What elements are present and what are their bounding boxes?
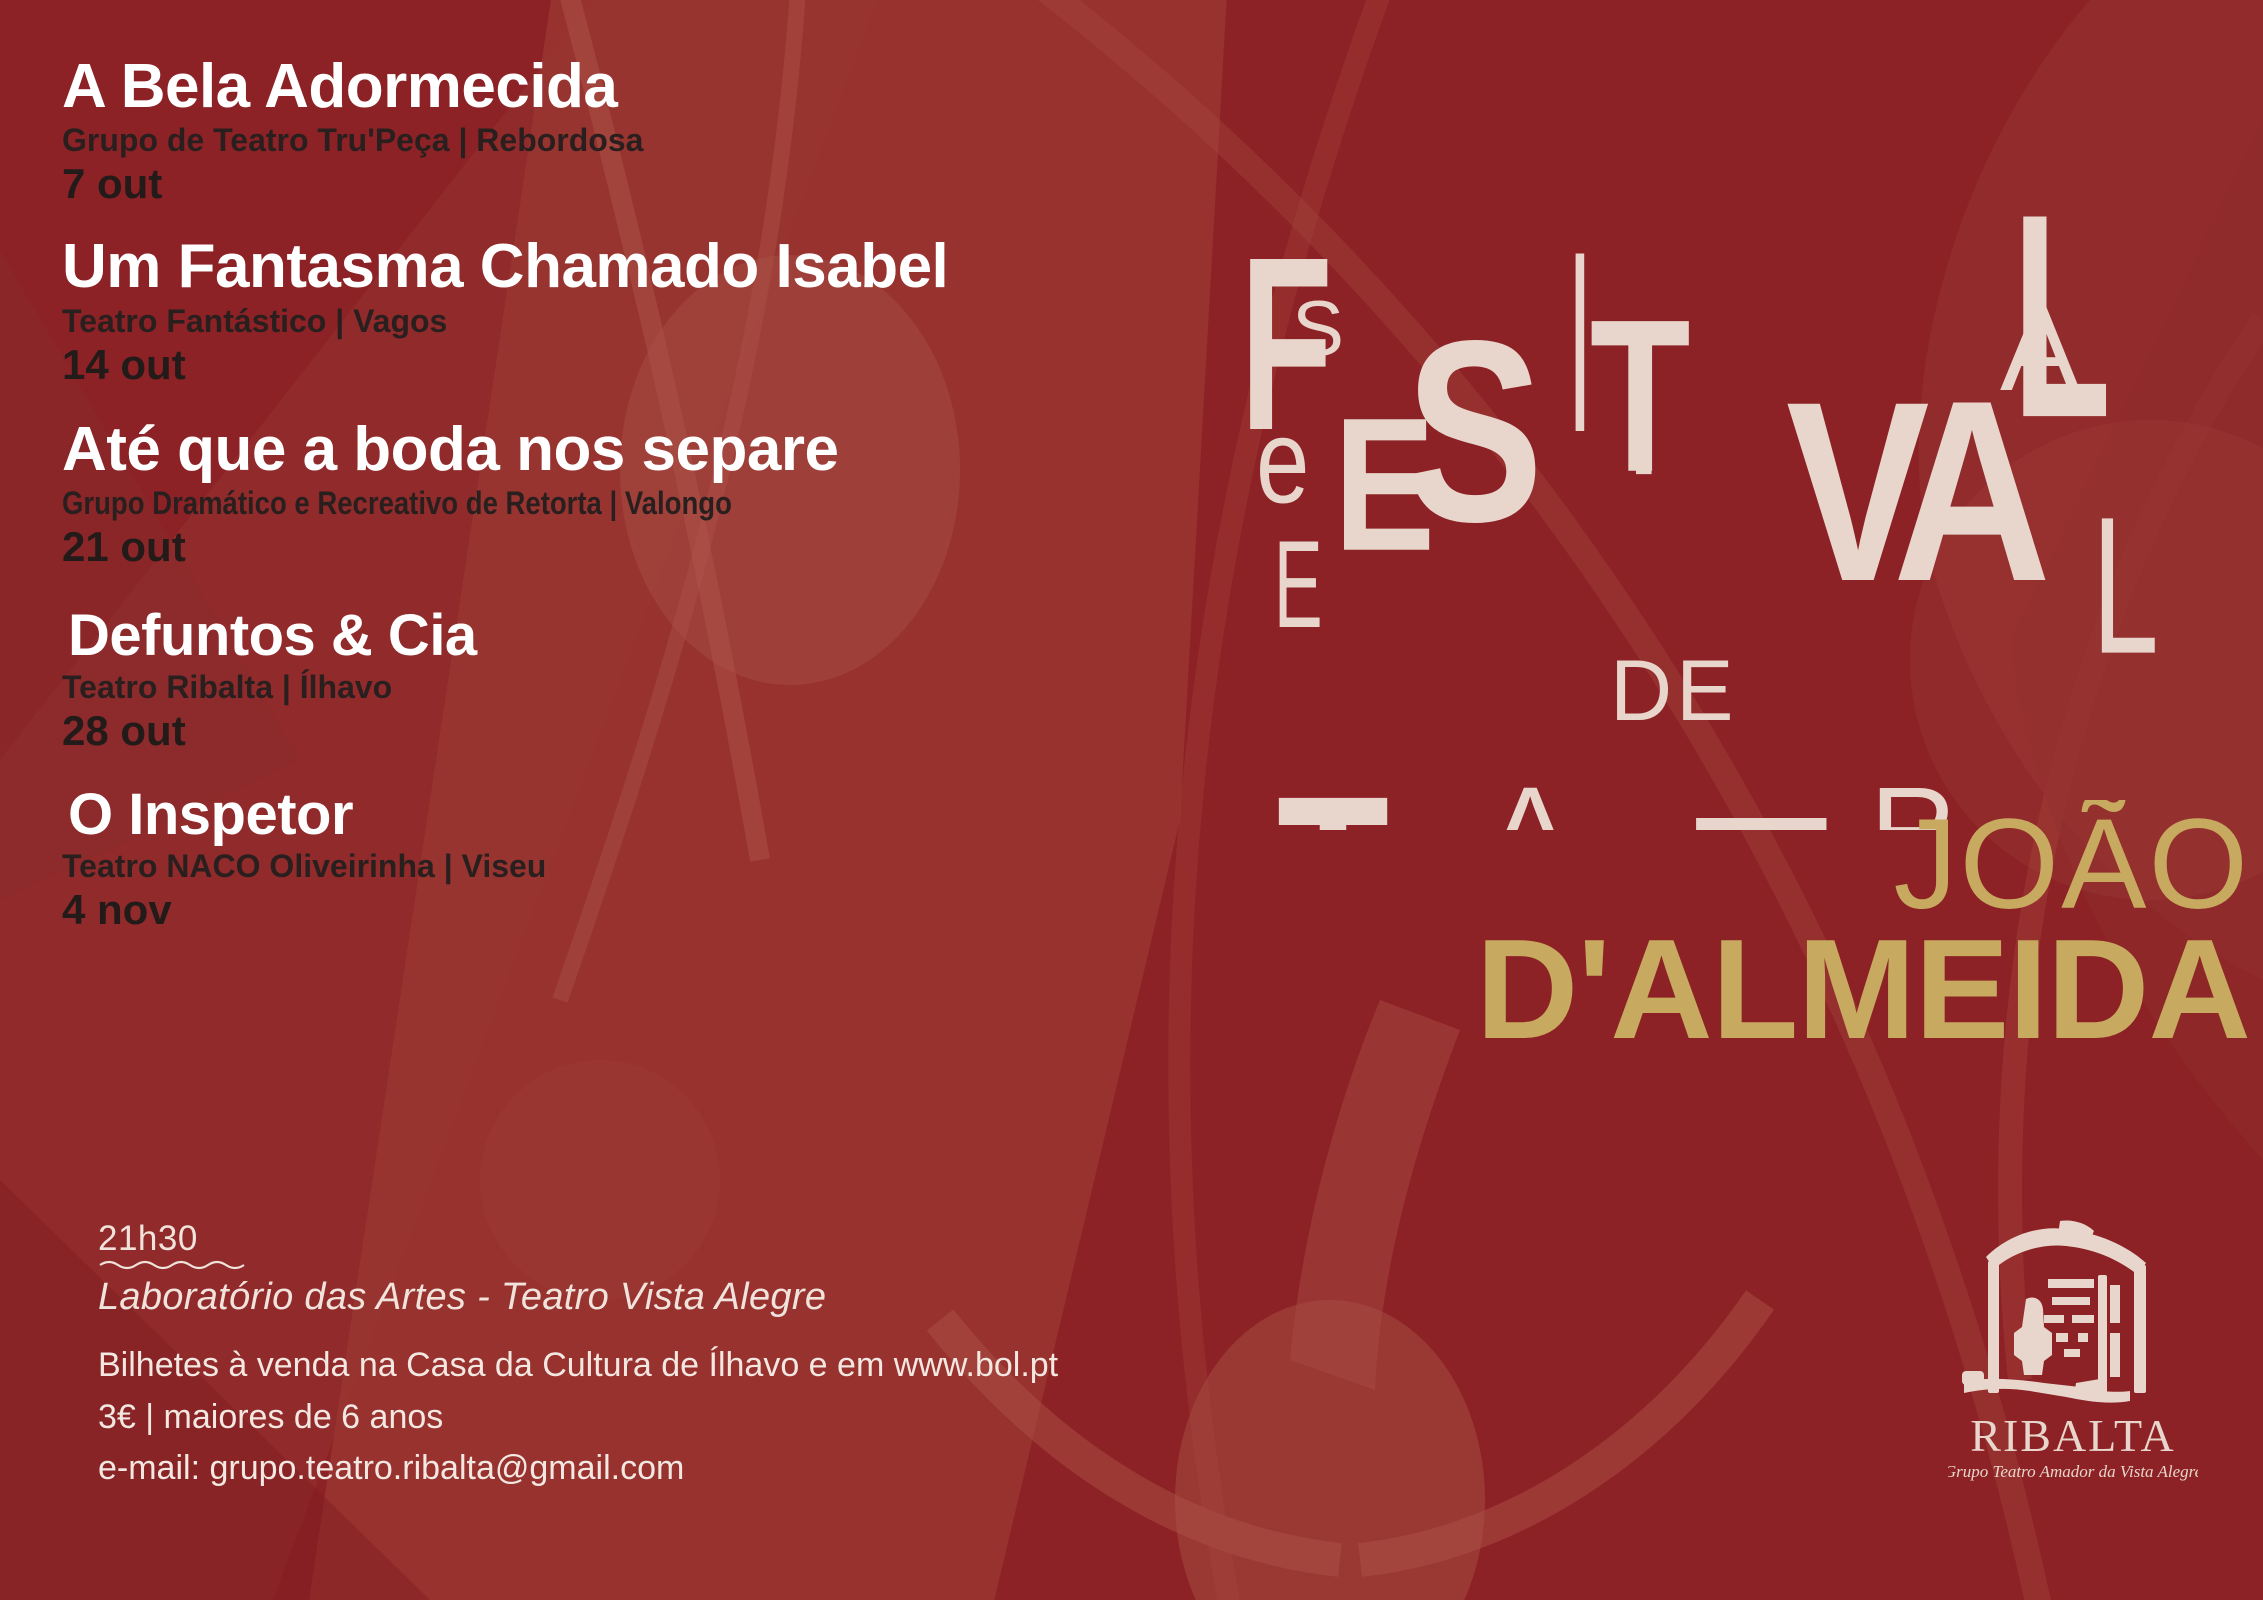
ticket-price-line: 3€ | maiores de 6 anos — [98, 1392, 1058, 1444]
play-group: Grupo de Teatro Tru'Peça | Rebordosa — [62, 120, 1242, 160]
play-title: Até que a boda nos separe — [62, 418, 1242, 481]
play-group: Teatro NACO Oliveirinha | Viseu — [62, 846, 1242, 886]
play-date: 4 nov — [62, 887, 1242, 933]
wordmark-letter-f: F — [1240, 206, 1333, 482]
play-group: Grupo Dramático e Recreativo de Retorta … — [62, 483, 1077, 523]
list-item[interactable]: O Inspetor Teatro NACO Oliveirinha | Vis… — [62, 785, 1242, 933]
wordmark-letter-i: I — [1629, 307, 1659, 515]
wordmark-letter-s: S — [1405, 286, 1543, 575]
honoree-last-name: D'ALMEIDA — [1476, 910, 2250, 1060]
play-date: 28 out — [62, 708, 1242, 754]
play-group: Teatro Fantástico | Vagos — [62, 301, 1242, 341]
ticket-sales-line: Bilhetes à venda na Casa da Cultura de Í… — [98, 1340, 1058, 1392]
wordmark-ghost-e2: E — [1274, 515, 1323, 654]
list-item[interactable]: Um Fantasma Chamado Isabel Teatro Fantás… — [62, 235, 1242, 387]
programme-list: A Bela Adormecida Grupo de Teatro Tru'Pe… — [62, 55, 1242, 955]
wordmark-letter-l-thin: L — [2092, 477, 2159, 695]
ticket-info: Bilhetes à venda na Casa da Cultura de Í… — [98, 1340, 1058, 1495]
play-date: 21 out — [62, 524, 1242, 570]
wordmark-letter-i-thin: l — [1569, 209, 1591, 483]
wordmark-letter-l: L — [2013, 153, 2111, 478]
play-group: Teatro Ribalta | Ílhavo — [62, 667, 1242, 707]
poster-canvas: A Bela Adormecida Grupo de Teatro Tru'Pe… — [0, 0, 2263, 1600]
list-item[interactable]: A Bela Adormecida Grupo de Teatro Tru'Pe… — [62, 55, 1242, 207]
play-title: Um Fantasma Chamado Isabel — [62, 235, 1242, 298]
show-time: 21h30 — [98, 1218, 198, 1260]
honoree-name: JOÃO D'ALMEIDA — [1250, 800, 2260, 1060]
play-title: Defuntos & Cia — [62, 606, 1242, 665]
list-item[interactable]: Defuntos & Cia Teatro Ribalta | Ílhavo 2… — [62, 606, 1242, 754]
play-date: 14 out — [62, 342, 1242, 388]
play-title: A Bela Adormecida — [62, 55, 1242, 118]
wordmark-de: DE — [1610, 643, 1737, 739]
logo-wordmark: RIBALTA — [1970, 1410, 2175, 1461]
play-date: 7 out — [62, 161, 1242, 207]
venue-name: Laboratório das Artes - Teatro Vista Ale… — [98, 1274, 1198, 1322]
play-title: O Inspetor — [62, 785, 1242, 844]
ribalta-logo: RIBALTA Grupo Teatro Amador da Vista Ale… — [1948, 1215, 2198, 1505]
festival-wordmark: S e F E S T I l V A A L L E DE T e E A A… — [1240, 130, 2260, 830]
list-item[interactable]: Até que a boda nos separe Grupo Dramátic… — [62, 418, 1242, 570]
logo-tagline: Grupo Teatro Amador da Vista Alegre — [1948, 1462, 2198, 1481]
venue-block: 21h30 Laboratório das Artes - Teatro Vis… — [98, 1218, 1198, 1322]
logo-stage-sketch — [1962, 1220, 2146, 1402]
ticket-email-line: e-mail: grupo.teatro.ribalta@gmail.com — [98, 1443, 1058, 1495]
